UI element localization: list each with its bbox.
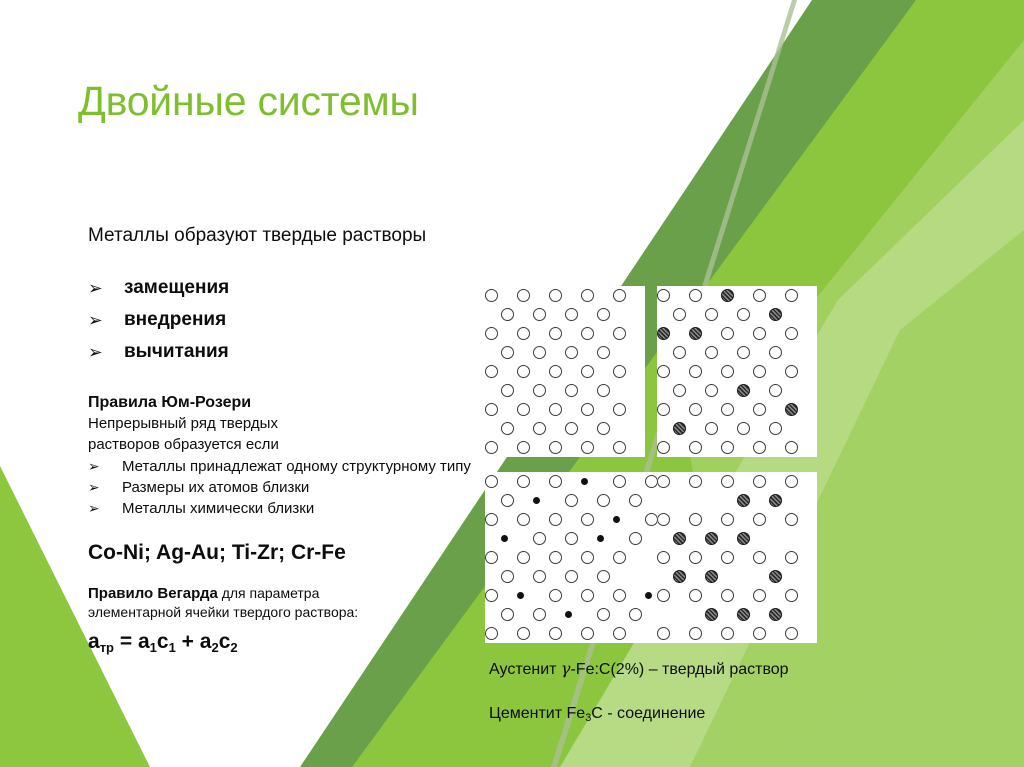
hume-rothery-subtitle-line1: Непрерывный ряд твердых <box>88 413 338 434</box>
page-title: Двойные системы <box>78 78 419 125</box>
atom-host <box>533 384 546 397</box>
atom-host <box>565 570 578 583</box>
atom-host <box>657 365 670 378</box>
formula-term4-sub: 2 <box>230 640 237 655</box>
atom-host <box>485 327 498 340</box>
atom-subst <box>673 570 686 583</box>
atom-host <box>533 532 546 545</box>
formula-term3-sub: 2 <box>211 640 218 655</box>
lattice-row <box>657 286 817 305</box>
cementite-subscript: 3 <box>585 712 591 724</box>
atom-host <box>705 346 718 359</box>
intro-text: Металлы образуют твердые растворы <box>88 224 478 248</box>
chevron-right-icon: ➢ <box>88 306 104 334</box>
chevron-right-icon: ➢ <box>88 274 104 302</box>
atom-host <box>785 441 798 454</box>
atom-subst <box>737 494 750 507</box>
atom-host <box>769 346 782 359</box>
atom-host <box>689 589 702 602</box>
atom-empty <box>673 494 686 507</box>
atom-host <box>689 475 702 488</box>
lattice-row <box>657 362 817 381</box>
atom-host <box>597 384 610 397</box>
atom-host <box>613 289 626 302</box>
figure-pure-lattice <box>485 286 645 457</box>
atom-host <box>737 346 750 359</box>
atom-host <box>689 289 702 302</box>
lattice-row <box>657 510 817 529</box>
atom-subst <box>673 532 686 545</box>
atom-host <box>549 441 562 454</box>
atom-host <box>785 589 798 602</box>
atom-host <box>517 365 530 378</box>
atom-host <box>485 513 498 526</box>
lattice-row <box>657 381 817 400</box>
atom-host <box>673 346 686 359</box>
chevron-right-icon: ➢ <box>88 338 104 366</box>
atom-host <box>565 494 578 507</box>
atom-host <box>565 346 578 359</box>
cementite-suffix: C - соединение <box>591 705 705 722</box>
lattice-row <box>657 438 817 457</box>
atom-host <box>581 589 594 602</box>
chevron-right-icon: ➢ <box>88 499 104 519</box>
atom-host <box>501 384 514 397</box>
atom-host <box>629 608 642 621</box>
atom-host <box>721 365 734 378</box>
atom-host <box>785 365 798 378</box>
formula-lhs-sub: тр <box>100 640 114 655</box>
atom-host <box>785 551 798 564</box>
atom-host <box>581 289 594 302</box>
atom-host <box>629 494 642 507</box>
atom-subst <box>737 384 750 397</box>
atom-host <box>673 308 686 321</box>
atom-host <box>613 627 626 640</box>
atom-host <box>581 327 594 340</box>
atom-host <box>501 308 514 321</box>
atom-inter <box>597 535 604 542</box>
atom-host <box>753 513 766 526</box>
lattice-row <box>657 605 817 624</box>
atom-host <box>785 627 798 640</box>
condition-label: Металлы принадлежат одному структурному … <box>122 458 471 475</box>
atom-host <box>657 403 670 416</box>
atom-empty <box>705 494 718 507</box>
atom-subst <box>689 327 702 340</box>
atom-host <box>597 422 610 435</box>
atom-host <box>517 441 530 454</box>
atom-host <box>517 627 530 640</box>
atom-host <box>517 289 530 302</box>
atom-inter <box>565 611 572 618</box>
atom-host <box>517 551 530 564</box>
list-item-substitution: ➢ замещения <box>88 274 478 302</box>
atom-subst <box>769 494 782 507</box>
formula-term1-base: a <box>138 630 150 653</box>
atom-host <box>657 513 670 526</box>
atom-host <box>769 422 782 435</box>
lattice-row <box>485 305 645 324</box>
caption-austenite: Аустенит γ-Fe:C(2%) – твердый раствор <box>489 658 789 680</box>
lattice-row <box>657 472 817 491</box>
atom-host <box>629 532 642 545</box>
atom-host <box>657 289 670 302</box>
atom-host <box>485 365 498 378</box>
condition-item-structure-type: ➢ Металлы принадлежат одному структурном… <box>88 457 478 477</box>
atom-host <box>581 627 594 640</box>
atom-host <box>565 308 578 321</box>
list-item-subtraction: ➢ вычитания <box>88 338 478 366</box>
atom-host <box>753 475 766 488</box>
solution-types-list: ➢ замещения ➢ внедрения ➢ вычитания <box>88 274 478 366</box>
atom-host <box>549 551 562 564</box>
atom-host <box>485 441 498 454</box>
atom-host <box>753 627 766 640</box>
vegard-heading-rest: для параметра <box>218 585 320 601</box>
formula-term2-sub: 1 <box>169 640 176 655</box>
lattice-row <box>657 567 817 586</box>
atom-subst <box>737 532 750 545</box>
atom-host <box>533 422 546 435</box>
formula-term1-sub: 1 <box>150 640 157 655</box>
atom-host <box>753 441 766 454</box>
atom-host <box>753 365 766 378</box>
atom-host <box>613 441 626 454</box>
atom-host <box>721 627 734 640</box>
vegard-subtitle: элементарной ячейки твердого раствора: <box>88 603 478 622</box>
hume-rothery-block: Правила Юм-Розери Непрерывный ряд тверды… <box>88 392 478 519</box>
atom-host <box>613 403 626 416</box>
lattice-row <box>485 286 645 305</box>
atom-host <box>517 327 530 340</box>
atom-host <box>501 608 514 621</box>
lattice-row <box>657 419 817 438</box>
alloy-pairs-text: Co-Ni; Ag-Au; Ti-Zr; Cr-Fe <box>88 540 478 566</box>
atom-host <box>737 308 750 321</box>
chevron-right-icon: ➢ <box>88 457 104 477</box>
atom-inter <box>613 516 620 523</box>
atom-host <box>549 627 562 640</box>
formula-equals: = <box>114 630 138 653</box>
atom-host <box>485 589 498 602</box>
atom-host <box>501 346 514 359</box>
atom-host <box>597 570 610 583</box>
atom-host <box>689 365 702 378</box>
atom-host <box>737 422 750 435</box>
lattice-row <box>657 343 817 362</box>
atom-host <box>705 308 718 321</box>
figure-subtraction-lattice <box>657 472 817 643</box>
atom-subst <box>705 532 718 545</box>
atom-host <box>657 441 670 454</box>
atom-host <box>517 513 530 526</box>
atom-host <box>673 384 686 397</box>
formula-lhs-base: a <box>88 630 100 653</box>
lattice-row <box>657 324 817 343</box>
atom-host <box>485 627 498 640</box>
caption-cementite: Цементит Fe3C - соединение <box>489 703 705 726</box>
atom-host <box>533 608 546 621</box>
atom-subst <box>737 608 750 621</box>
atom-host <box>597 494 610 507</box>
atom-host <box>581 441 594 454</box>
atom-host <box>657 627 670 640</box>
atom-host <box>753 403 766 416</box>
atom-host <box>549 513 562 526</box>
atom-subst <box>705 608 718 621</box>
hume-rothery-subtitle-line2: растворов образуется если <box>88 434 338 455</box>
lattice-row <box>657 548 817 567</box>
atom-host <box>549 327 562 340</box>
list-item-label: вычитания <box>124 341 229 362</box>
atom-host <box>613 475 626 488</box>
hume-rothery-conditions-list: ➢ Металлы принадлежат одному структурном… <box>88 457 478 519</box>
atom-host <box>565 384 578 397</box>
vegard-formula: aтр = a1c1 + a2c2 <box>88 630 478 656</box>
condition-item-chemical-similarity: ➢ Металлы химически близки <box>88 499 478 519</box>
atom-host <box>721 589 734 602</box>
atom-subst <box>673 422 686 435</box>
atom-host <box>565 422 578 435</box>
lattice-row <box>657 624 817 643</box>
atom-host <box>517 475 530 488</box>
atom-host <box>613 365 626 378</box>
lattice-row <box>485 343 645 362</box>
atom-empty <box>769 532 782 545</box>
slide: Двойные системы Металлы образуют твердые… <box>0 0 1024 767</box>
left-content-column: Металлы образуют твердые растворы ➢ заме… <box>88 224 478 656</box>
austenite-suffix: -Fe:C(2%) – твердый раствор <box>570 661 788 678</box>
atom-host <box>785 289 798 302</box>
atom-host <box>581 513 594 526</box>
atom-empty <box>673 608 686 621</box>
atom-host <box>721 327 734 340</box>
atom-host <box>753 551 766 564</box>
atom-host <box>769 384 782 397</box>
hume-rothery-heading: Правила Юм-Розери <box>88 392 478 413</box>
atom-host <box>501 422 514 435</box>
atom-host <box>597 346 610 359</box>
atom-host <box>597 308 610 321</box>
atom-subst <box>769 308 782 321</box>
cementite-prefix: Цементит Fe <box>489 705 585 722</box>
atom-host <box>485 475 498 488</box>
list-item-label: замещения <box>124 277 229 298</box>
atom-host <box>581 403 594 416</box>
formula-term3-base: a <box>200 630 212 653</box>
atom-host <box>785 513 798 526</box>
figure-substitution-lattice <box>657 286 817 457</box>
atom-inter <box>645 592 652 599</box>
atom-host <box>721 475 734 488</box>
vegard-heading: Правило Вегарда <box>88 585 218 602</box>
lattice-row <box>657 305 817 324</box>
atom-host <box>533 570 546 583</box>
atom-host <box>657 589 670 602</box>
atom-host <box>565 532 578 545</box>
list-item-interstitial: ➢ внедрения <box>88 306 478 334</box>
atom-host <box>705 422 718 435</box>
atom-subst <box>769 570 782 583</box>
atom-host <box>721 513 734 526</box>
lattice-row <box>657 491 817 510</box>
lattice-row <box>485 324 645 343</box>
atom-host <box>689 513 702 526</box>
atom-host <box>581 551 594 564</box>
lattice-row <box>485 362 645 381</box>
atom-inter <box>517 592 524 599</box>
lattice-row <box>485 381 645 400</box>
vegard-rule-block: Правило Вегарда для параметра элементарн… <box>88 584 478 656</box>
atom-host <box>549 403 562 416</box>
atom-host <box>613 327 626 340</box>
atom-host <box>581 365 594 378</box>
atom-host <box>657 475 670 488</box>
atom-subst <box>785 403 798 416</box>
atom-host <box>501 570 514 583</box>
atom-subst <box>705 570 718 583</box>
austenite-prefix: Аустенит <box>489 661 561 678</box>
atom-host <box>485 403 498 416</box>
lattice-row <box>657 400 817 419</box>
atom-host <box>705 384 718 397</box>
list-item-label: внедрения <box>124 309 226 330</box>
formula-term2-base: c <box>157 630 169 653</box>
atom-host <box>549 475 562 488</box>
lattice-row <box>485 419 645 438</box>
atom-host <box>689 441 702 454</box>
atom-host <box>721 403 734 416</box>
lattice-row <box>485 438 645 457</box>
chevron-right-icon: ➢ <box>88 478 104 498</box>
atom-host <box>485 551 498 564</box>
atom-host <box>753 289 766 302</box>
atom-host <box>785 475 798 488</box>
atom-inter <box>501 535 508 542</box>
atom-host <box>689 551 702 564</box>
atom-host <box>785 327 798 340</box>
atom-inter <box>533 497 540 504</box>
vegard-heading-line: Правило Вегарда для параметра <box>88 584 478 603</box>
atom-subst <box>721 289 734 302</box>
atom-host <box>597 608 610 621</box>
atom-host <box>533 308 546 321</box>
formula-plus: + <box>176 630 200 653</box>
atom-host <box>657 551 670 564</box>
atom-host <box>613 551 626 564</box>
atom-inter <box>581 478 588 485</box>
atom-subst <box>769 608 782 621</box>
atom-subst <box>657 327 670 340</box>
atom-host <box>549 289 562 302</box>
atom-host <box>689 627 702 640</box>
lattice-row <box>657 529 817 548</box>
atom-host <box>689 403 702 416</box>
atom-host <box>533 346 546 359</box>
atom-host <box>721 551 734 564</box>
atom-host <box>613 589 626 602</box>
atom-host <box>485 289 498 302</box>
lattice-row <box>657 586 817 605</box>
lattice-row <box>485 400 645 419</box>
atom-empty <box>737 570 750 583</box>
atom-host <box>549 589 562 602</box>
formula-term4-base: c <box>219 630 231 653</box>
condition-label: Размеры их атомов близки <box>122 479 309 496</box>
atom-host <box>753 589 766 602</box>
atom-host <box>721 441 734 454</box>
atom-host <box>501 494 514 507</box>
atom-host <box>753 327 766 340</box>
atom-host <box>549 365 562 378</box>
atom-host <box>517 403 530 416</box>
condition-label: Металлы химически близки <box>122 500 314 517</box>
condition-item-atom-size: ➢ Размеры их атомов близки <box>88 478 478 498</box>
